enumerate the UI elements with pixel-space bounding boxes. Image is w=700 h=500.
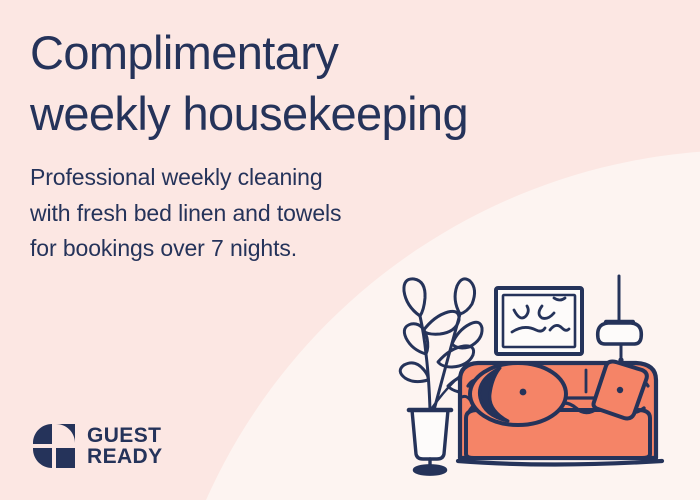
framed-picture-icon — [496, 288, 582, 354]
logo-line-1: GUEST — [87, 425, 163, 446]
logo-wordmark: GUEST READY — [87, 425, 163, 468]
page-title: Complimentary weekly housekeeping — [30, 22, 630, 144]
coral-sofa-icon — [458, 362, 662, 465]
description-text: Professional weekly cleaning with fresh … — [30, 160, 450, 267]
pendant-lamp-icon — [598, 276, 642, 363]
promo-banner: Complimentary weekly housekeeping Profes… — [0, 0, 700, 500]
logo-line-2: READY — [87, 446, 163, 467]
brand-logo: GUEST READY — [32, 424, 163, 468]
guestready-quadrant-mark — [32, 424, 76, 468]
living-room-illustration — [390, 258, 700, 500]
